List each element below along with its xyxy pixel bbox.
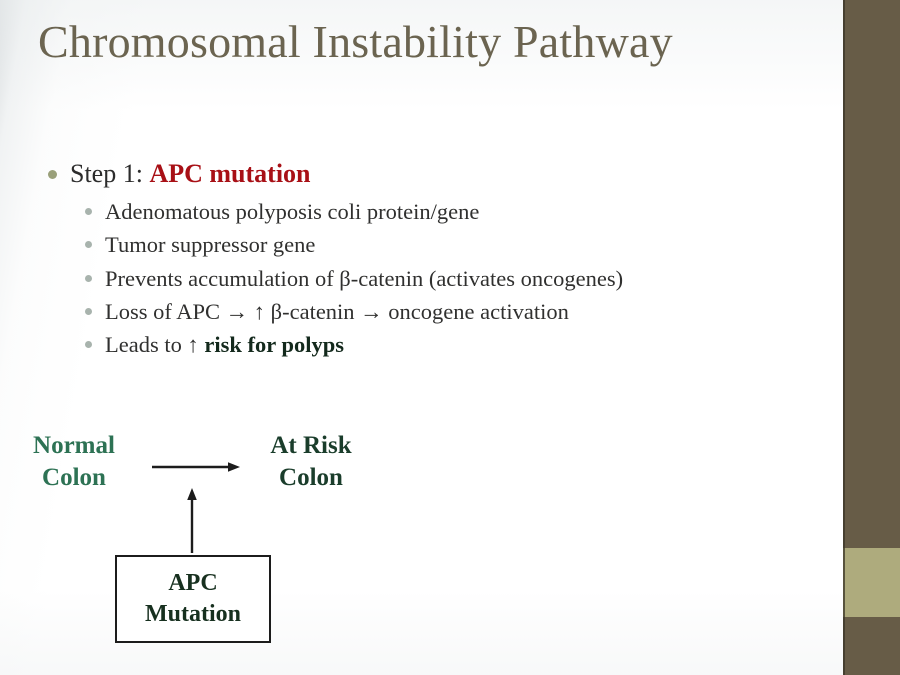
horizontal-arrow-icon [152,462,240,472]
sidebar-segment-upper [843,0,900,548]
pathway-diagram: Normal Colon At Risk Colon APC Mutation [0,0,843,675]
decorative-sidebar [843,0,900,675]
slide-canvas: Chromosomal Instability Pathway Step 1: … [0,0,900,675]
apc-mutation-box-label: APC Mutation [145,568,241,630]
vertical-arrow-icon [187,488,197,553]
sidebar-segment-accent [843,548,900,617]
apc-mutation-box: APC Mutation [115,555,271,643]
sidebar-segment-lower [843,617,900,675]
sidebar-edge-line [843,0,845,675]
